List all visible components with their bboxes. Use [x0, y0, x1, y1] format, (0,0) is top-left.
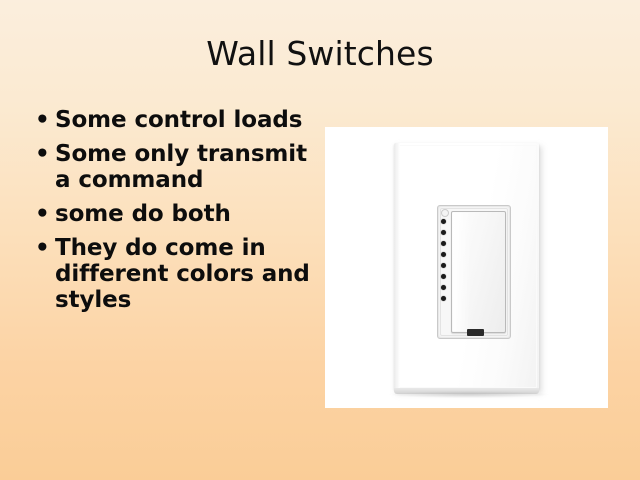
led-level-column	[440, 219, 449, 309]
led-indicator-icon	[441, 296, 446, 301]
led-indicator-icon	[441, 219, 446, 224]
list-item-text: They do come in different colors and sty…	[55, 235, 330, 313]
led-indicator-icon	[441, 263, 446, 268]
faceplate-left-highlight	[394, 143, 400, 390]
list-item: • Some control loads	[30, 107, 330, 133]
list-item: • Some only transmit a command	[30, 141, 330, 193]
list-item: • They do come in different colors and s…	[30, 235, 330, 313]
switch-paddle	[451, 211, 506, 333]
bullet-marker-icon: •	[35, 201, 50, 227]
led-indicator-icon	[441, 285, 446, 290]
slide: Wall Switches • Some control loads • Som…	[0, 0, 640, 480]
bullet-list: • Some control loads • Some only transmi…	[30, 107, 330, 321]
led-indicator-icon	[441, 230, 446, 235]
list-item-text: Some control loads	[55, 107, 330, 133]
paddle-gloss-highlight	[453, 213, 471, 331]
page-title: Wall Switches	[0, 34, 640, 74]
bullet-marker-icon: •	[35, 235, 50, 261]
led-indicator-icon	[441, 252, 446, 257]
wall-switch-image-panel	[325, 127, 608, 408]
power-indicator-icon	[441, 209, 449, 217]
bullet-marker-icon: •	[35, 141, 50, 167]
photo-floor-shadow	[389, 391, 549, 398]
wall-switch-photo	[325, 127, 608, 408]
led-indicator-icon	[441, 241, 446, 246]
list-item-text: some do both	[55, 201, 330, 227]
led-indicator-icon	[441, 274, 446, 279]
bullet-marker-icon: •	[35, 107, 50, 133]
list-item: • some do both	[30, 201, 330, 227]
set-button	[467, 329, 484, 336]
list-item-text: Some only transmit a command	[55, 141, 330, 193]
